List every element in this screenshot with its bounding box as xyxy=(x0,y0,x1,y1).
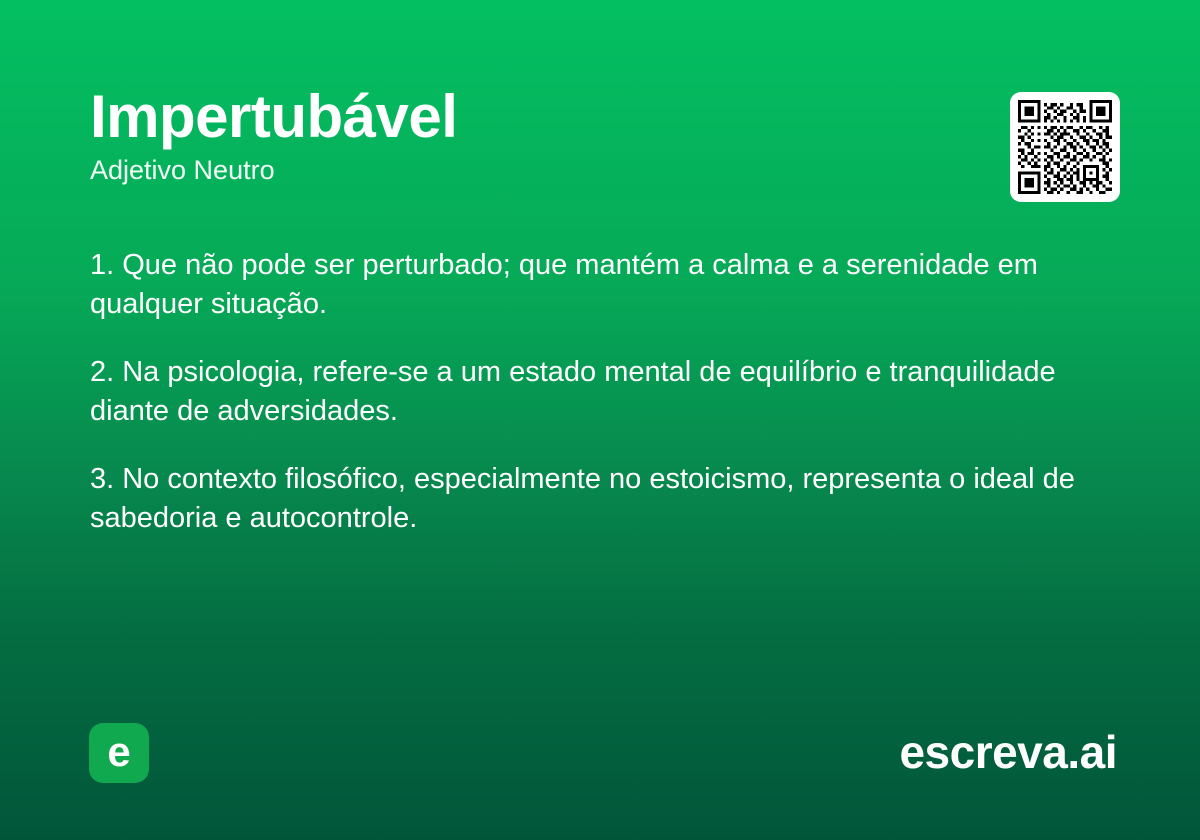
qr-code-icon xyxy=(1018,100,1112,194)
page-title: Impertubável xyxy=(90,86,970,147)
definition-item: 1. Que não pode ser perturbado; que mant… xyxy=(90,246,1080,323)
dictionary-card: Impertubável Adjetivo Neutro xyxy=(0,0,1200,840)
definitions-list: 1. Que não pode ser perturbado; que mant… xyxy=(90,246,1080,537)
definition-item: 2. Na psicologia, refere-se a um estado … xyxy=(90,353,1080,430)
brand-logo-icon: e xyxy=(89,723,149,783)
brand-wordmark: escreva.ai xyxy=(899,724,1117,782)
qr-code-panel[interactable] xyxy=(1010,92,1120,202)
brand-logo-letter: e xyxy=(107,731,130,773)
word-class-label: Adjetivo Neutro xyxy=(90,155,970,186)
card-header: Impertubável Adjetivo Neutro xyxy=(90,86,970,186)
definition-item: 3. No contexto filosófico, especialmente… xyxy=(90,460,1080,537)
